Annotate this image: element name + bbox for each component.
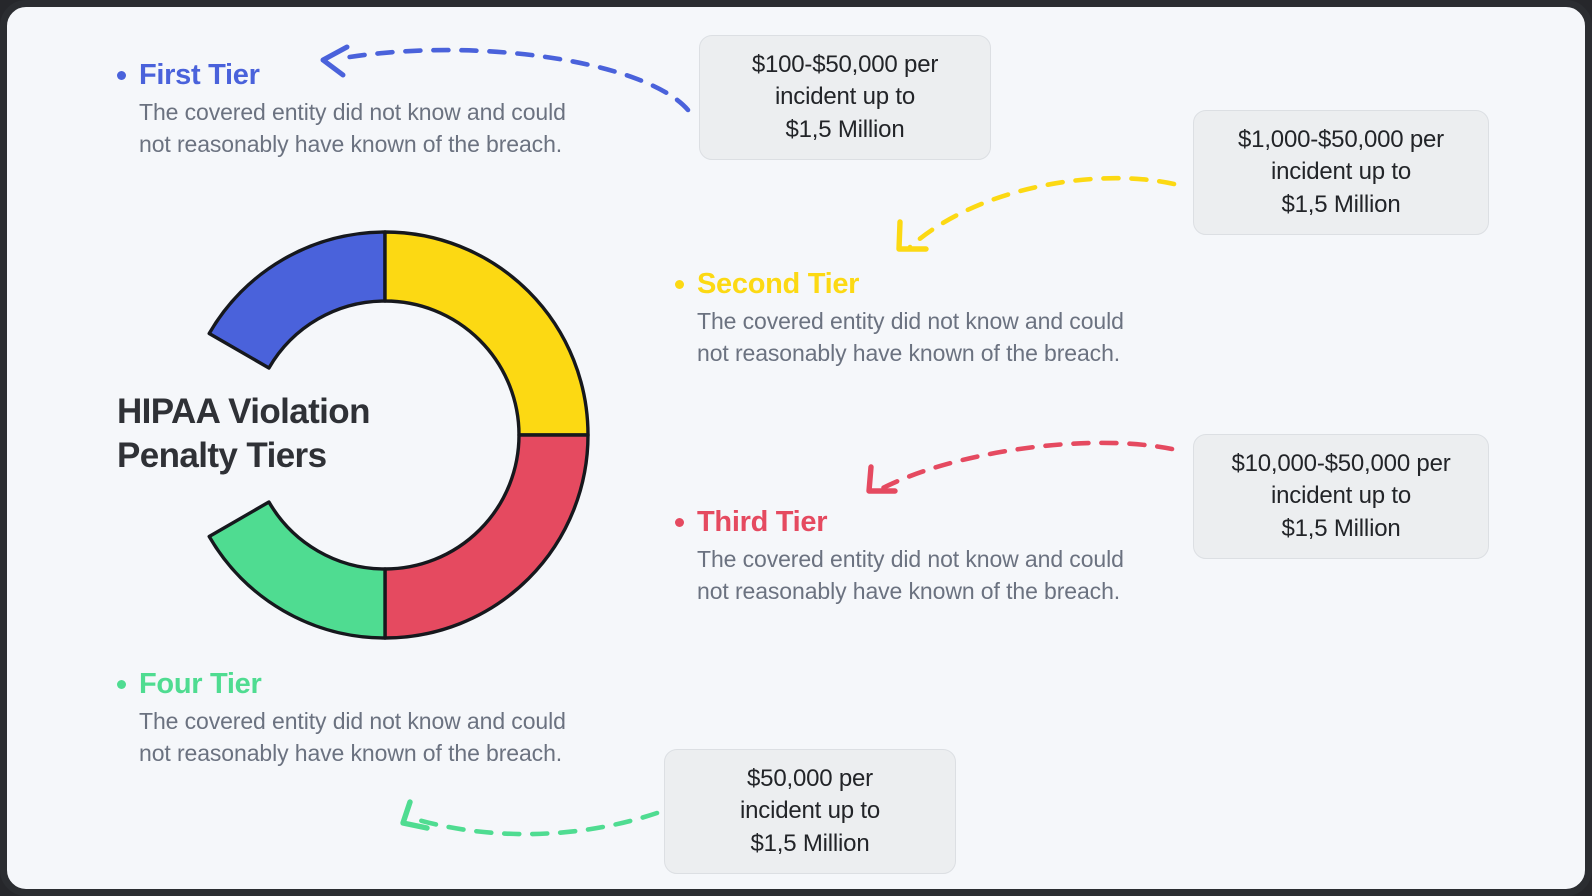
tier-title-third: Third Tier <box>697 508 827 537</box>
green-dashed-arrow <box>403 802 657 834</box>
tier-block-four: Four Tier The covered entity did not kno… <box>117 670 579 769</box>
callout-box-third: $10,000-$50,000 per incident up to $1,5 … <box>1193 434 1489 559</box>
bullet-dot-first-icon <box>117 71 126 80</box>
callout-four-line-2: incident up to <box>740 795 880 827</box>
callout-second-line-1: $1,000-$50,000 per <box>1238 124 1444 156</box>
callout-third-line-1: $10,000-$50,000 per <box>1231 448 1450 480</box>
tier-description-second: The covered entity did not know and coul… <box>697 306 1149 369</box>
callout-box-four: $50,000 per incident up to $1,5 Million <box>664 749 956 874</box>
callout-first-line-3: $1,5 Million <box>752 114 938 146</box>
tier-description-first: The covered entity did not know and coul… <box>139 97 579 160</box>
callout-box-second: $1,000-$50,000 per incident up to $1,5 M… <box>1193 110 1489 235</box>
tier-title-second: Second Tier <box>697 270 859 299</box>
tier-block-third: Third Tier The covered entity did not kn… <box>675 508 1149 607</box>
callout-first-line-2: incident up to <box>752 81 938 113</box>
tier-header-third: Third Tier <box>675 508 1149 537</box>
callout-third-line-3: $1,5 Million <box>1231 513 1450 545</box>
tier-title-four: Four Tier <box>139 670 261 699</box>
callout-box-first: $100-$50,000 per incident up to $1,5 Mil… <box>699 35 991 160</box>
callout-four-line-3: $1,5 Million <box>740 828 880 860</box>
tier-header-second: Second Tier <box>675 270 1149 299</box>
donut-title-line-2: Penalty Tiers <box>117 434 457 478</box>
callout-second-line-2: incident up to <box>1238 156 1444 188</box>
bullet-dot-four-icon <box>117 680 126 689</box>
callout-four-line-1: $50,000 per <box>740 763 880 795</box>
bullet-dot-third-icon <box>675 518 684 527</box>
callout-third-line-2: incident up to <box>1231 480 1450 512</box>
yellow-dashed-arrow <box>899 178 1174 249</box>
red-dashed-arrow <box>869 443 1172 491</box>
tier-description-four: The covered entity did not know and coul… <box>139 706 579 769</box>
tier-block-second: Second Tier The covered entity did not k… <box>675 270 1149 369</box>
callout-first-line-1: $100-$50,000 per <box>752 49 938 81</box>
donut-title-line-1: HIPAA Violation <box>117 390 457 434</box>
infographic-canvas: HIPAA Violation Penalty Tiers First Tie <box>0 0 1592 896</box>
tier-description-third: The covered entity did not know and coul… <box>697 544 1149 607</box>
tier-header-four: Four Tier <box>117 670 579 699</box>
tier-block-first: First Tier The covered entity did not kn… <box>117 61 579 160</box>
callout-second-line-3: $1,5 Million <box>1238 189 1444 221</box>
tier-header-first: First Tier <box>117 61 579 90</box>
donut-segment-four-tier <box>209 502 385 638</box>
donut-center-title: HIPAA Violation Penalty Tiers <box>117 390 457 479</box>
donut-segment-first-tier <box>209 232 385 368</box>
bullet-dot-second-icon <box>675 280 684 289</box>
tier-title-first: First Tier <box>139 61 260 90</box>
